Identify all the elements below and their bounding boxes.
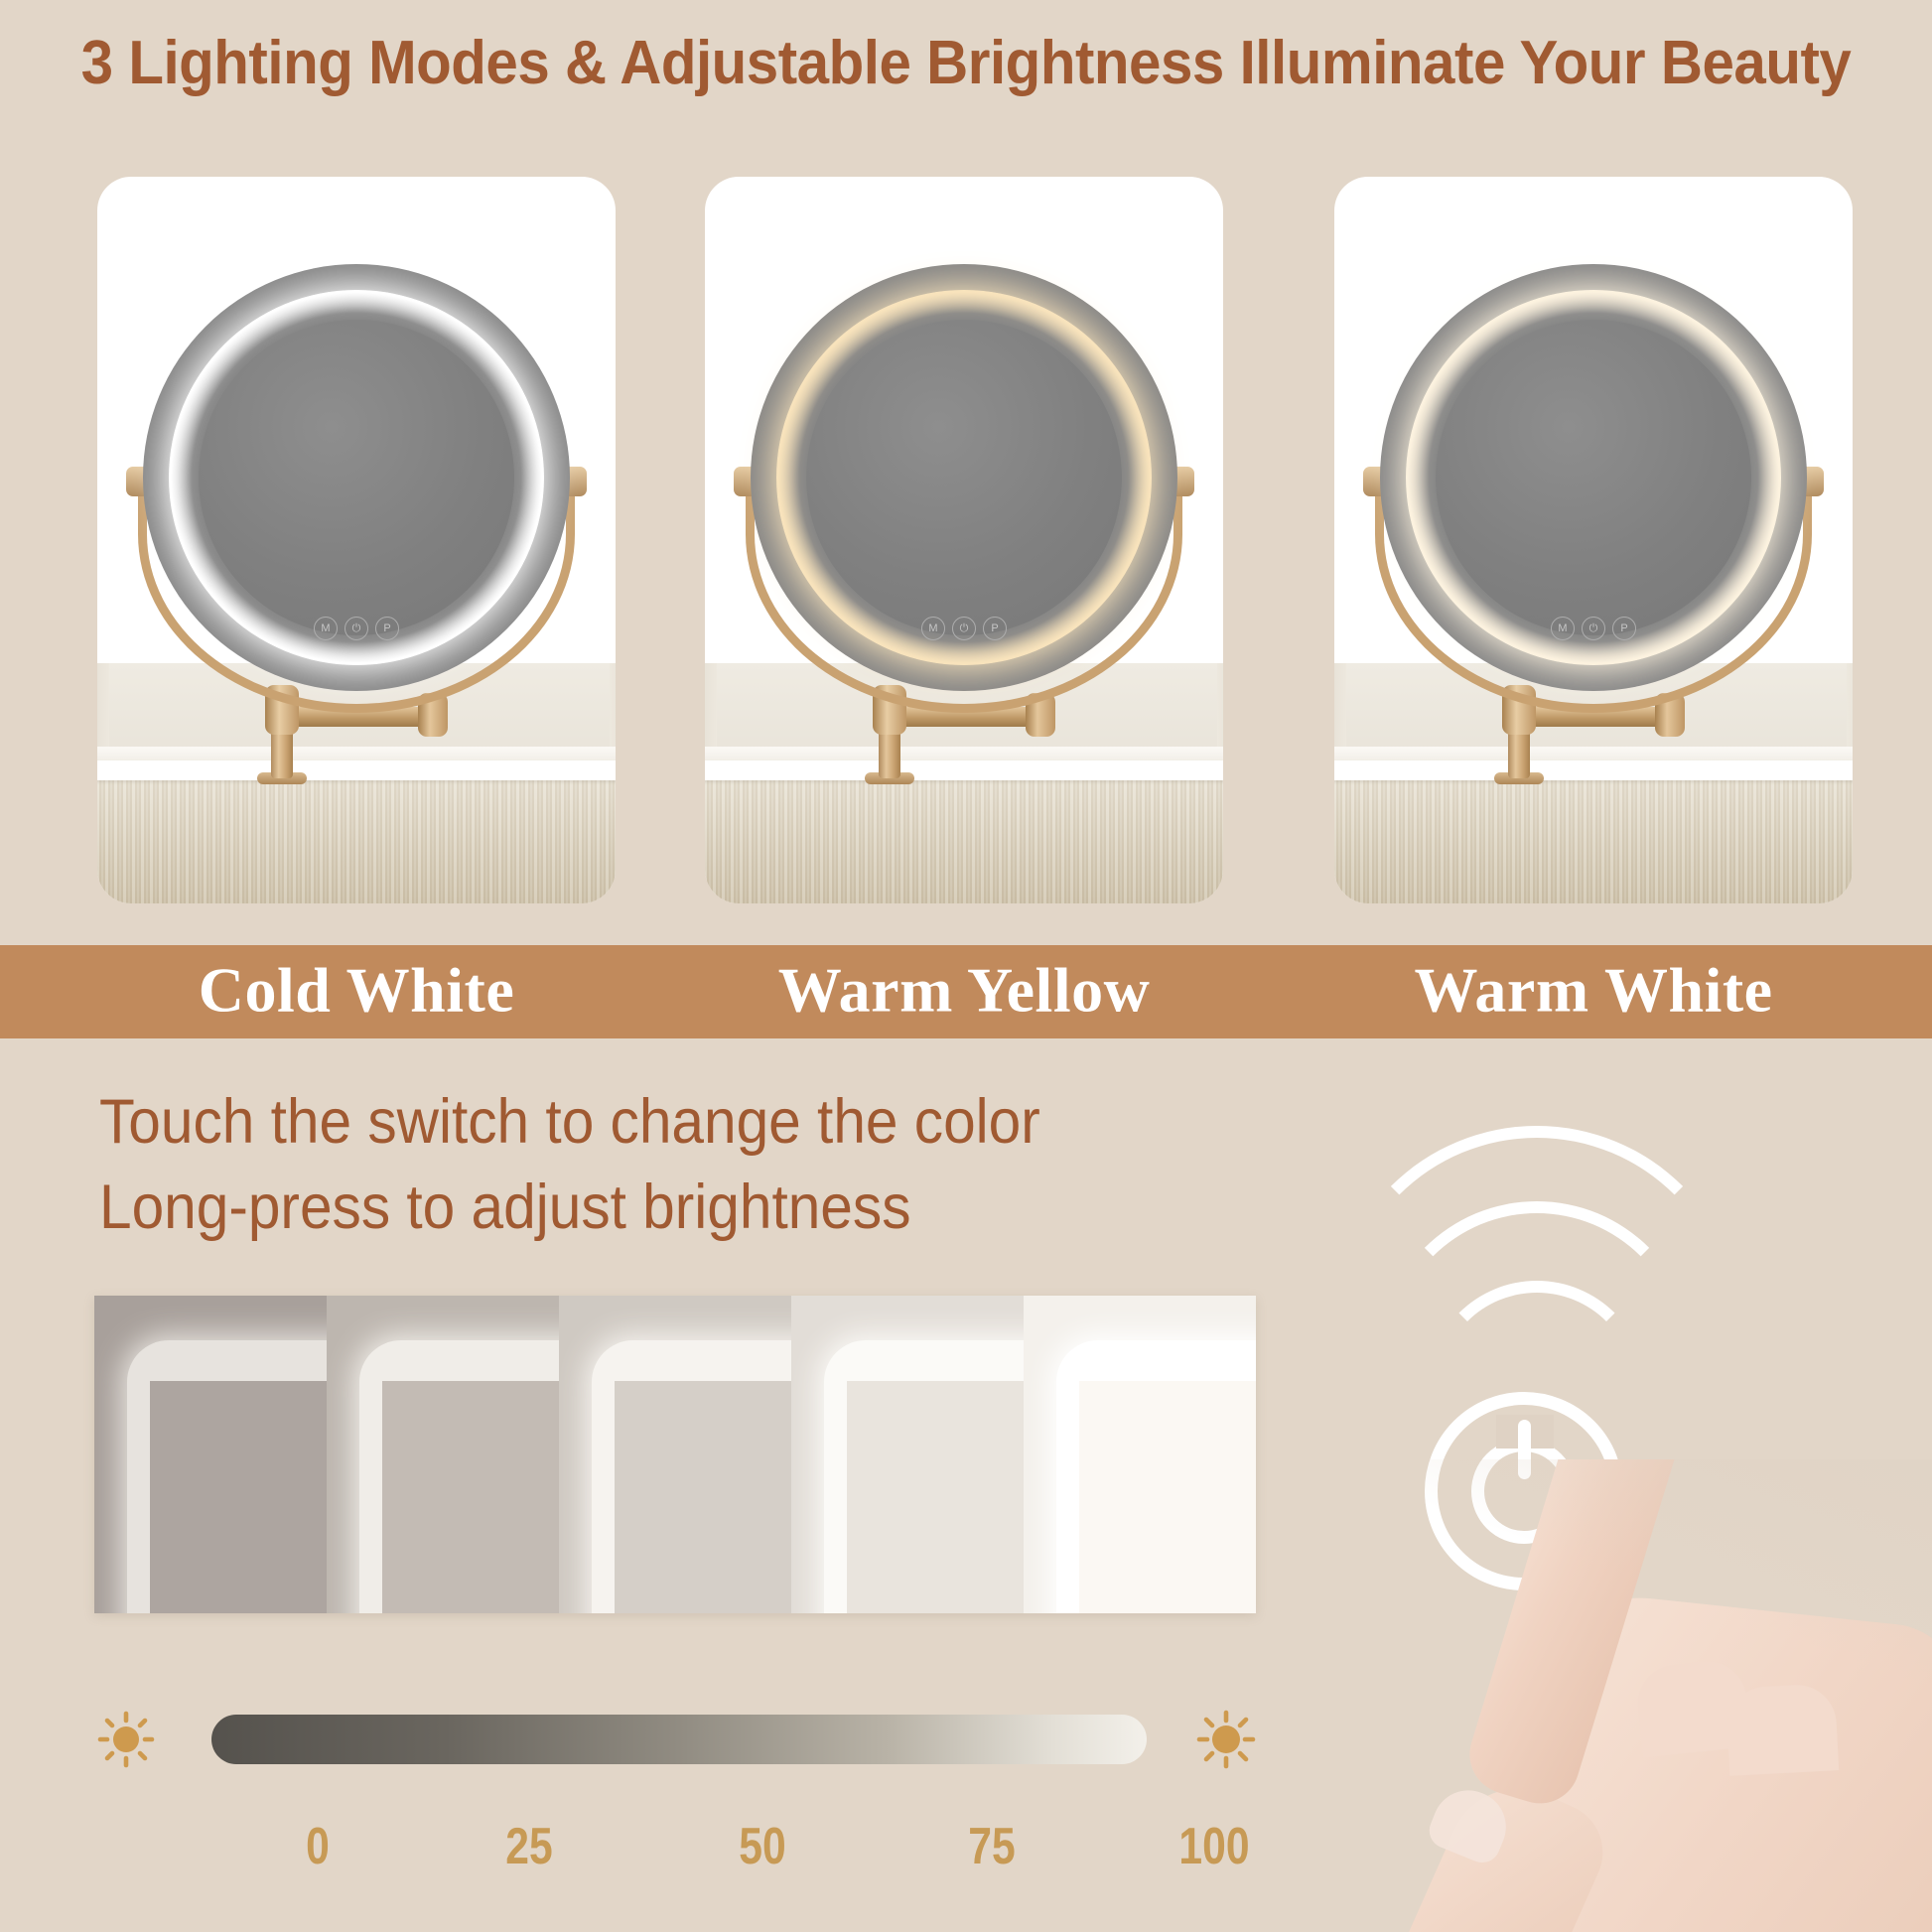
power-button-icon[interactable]: ⏻ <box>345 617 368 640</box>
tick-25: 25 <box>473 1817 587 1876</box>
brightness-step <box>791 1296 1024 1613</box>
shelf-lip <box>1334 760 1853 780</box>
preset-button-icon[interactable]: P <box>1612 617 1636 640</box>
lighting-mode-card-warm-yellow[interactable]: M ⏻ P <box>705 177 1223 903</box>
mirror-touch-controls[interactable]: M ⏻ P <box>314 618 399 639</box>
mode-label-warm-yellow: Warm Yellow <box>705 954 1223 1028</box>
fluted-cabinet <box>97 778 616 903</box>
round-led-mirror: M ⏻ P <box>1380 264 1807 691</box>
page-title: 3 Lighting Modes & Adjustable Brightness… <box>58 28 1873 98</box>
tick-100: 100 <box>1158 1817 1272 1876</box>
preset-button-icon[interactable]: P <box>983 617 1007 640</box>
infographic-root: 3 Lighting Modes & Adjustable Brightness… <box>0 0 1932 1932</box>
fluted-cabinet <box>1334 778 1853 903</box>
lighting-mode-card-row: M ⏻ P <box>0 177 1932 903</box>
brightness-step <box>327 1296 559 1613</box>
lighting-mode-card-cold-white[interactable]: M ⏻ P <box>97 177 616 903</box>
brightness-slider[interactable] <box>94 1706 1266 1781</box>
memory-button-icon[interactable]: M <box>1551 617 1575 640</box>
instruction-line-2: Long-press to adjust brightness <box>99 1166 1040 1251</box>
fluted-cabinet <box>705 778 1223 903</box>
mirror-scene: M ⏻ P <box>705 177 1223 903</box>
tick-50: 50 <box>706 1817 820 1876</box>
instruction-line-1: Touch the switch to change the color <box>99 1087 1040 1157</box>
brightness-step <box>559 1296 791 1613</box>
round-led-mirror: M ⏻ P <box>143 264 570 691</box>
preset-button-icon[interactable]: P <box>375 617 399 640</box>
tick-75: 75 <box>935 1817 1049 1876</box>
memory-button-icon[interactable]: M <box>921 617 945 640</box>
sun-low-icon <box>94 1708 158 1771</box>
lighting-mode-card-warm-white[interactable]: M ⏻ P <box>1334 177 1853 903</box>
mode-label-cold-white: Cold White <box>97 954 616 1028</box>
pointing-hand-image <box>1370 1459 1932 1932</box>
mirror-glass <box>199 320 514 635</box>
mirror-glass <box>806 320 1122 635</box>
sun-high-icon <box>1194 1708 1258 1771</box>
round-led-mirror: M ⏻ P <box>751 264 1177 691</box>
mirror-touch-controls[interactable]: M ⏻ P <box>921 618 1007 639</box>
mirror-touch-controls[interactable]: M ⏻ P <box>1551 618 1636 639</box>
mirror-scene: M ⏻ P <box>1334 177 1853 903</box>
brightness-step <box>94 1296 327 1613</box>
tick-0: 0 <box>261 1817 375 1876</box>
brightness-step <box>1024 1296 1256 1613</box>
brightness-level-strip <box>94 1296 1256 1613</box>
brightness-scale-labels: 0 25 50 75 100 <box>94 1817 1266 1876</box>
shelf-lip <box>705 760 1223 780</box>
shelf-lip <box>97 760 616 780</box>
memory-button-icon[interactable]: M <box>314 617 338 640</box>
mirror-glass <box>1436 320 1751 635</box>
mirror-scene: M ⏻ P <box>97 177 616 903</box>
power-button-icon[interactable]: ⏻ <box>952 617 976 640</box>
power-button-icon[interactable]: ⏻ <box>1582 617 1605 640</box>
mode-label-band: Cold White Warm Yellow Warm White <box>0 945 1932 1038</box>
mode-label-warm-white: Warm White <box>1334 954 1853 1028</box>
instruction-text: Touch the switch to change the color Lon… <box>99 1080 1040 1250</box>
hand-edge-fade <box>1370 1459 1932 1932</box>
brightness-slider-track[interactable] <box>211 1715 1147 1764</box>
